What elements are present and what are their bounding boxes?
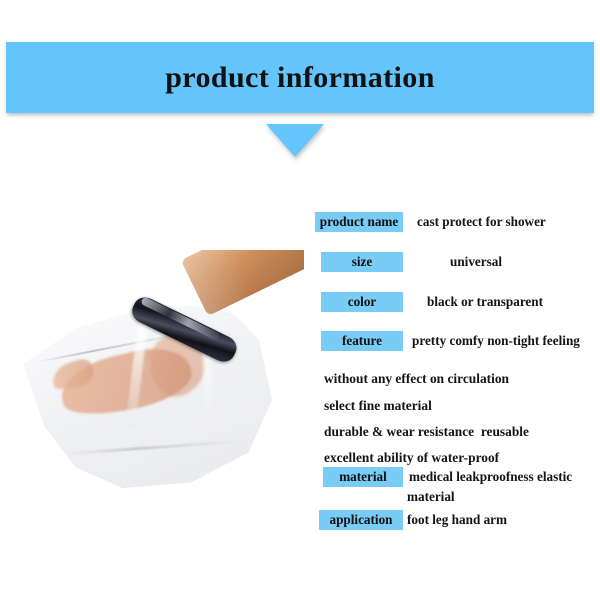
product-photo	[12, 250, 304, 505]
product-information-page: product information product name cast pr…	[0, 0, 600, 600]
spec-label-material: material	[323, 467, 403, 487]
product-photo-inner	[12, 250, 304, 505]
spec-label-application: application	[319, 510, 403, 530]
spec-value-size: universal	[450, 254, 502, 270]
triangle-down-icon	[266, 124, 326, 160]
spec-row-size: size universal	[308, 252, 598, 272]
feature-bullet-1: without any effect on circulation	[324, 371, 509, 387]
spec-value-color: black or transparent	[427, 294, 543, 310]
triangle-down-shape	[266, 124, 324, 157]
spec-label-color: color	[321, 292, 403, 312]
spec-value-feature: pretty comfy non-tight feeling	[412, 333, 580, 349]
spec-row-material: material medical leakproofness elastic	[308, 467, 598, 487]
feature-bullet-4: excellent ability of water-proof	[324, 450, 499, 466]
spec-row-application: application foot leg hand arm	[308, 510, 598, 530]
spec-value-product-name: cast protect for shower	[417, 214, 546, 230]
leg-shading	[181, 250, 304, 316]
spec-label-feature: feature	[321, 331, 403, 351]
spec-value-material-wrap: material	[407, 489, 455, 505]
page-title: product information	[165, 63, 435, 93]
specification-list: product name cast protect for shower siz…	[308, 212, 598, 542]
header-banner: product information	[6, 42, 594, 113]
spec-value-application: foot leg hand arm	[407, 512, 507, 528]
spec-row-product-name: product name cast protect for shower	[308, 212, 598, 232]
spec-row-feature: feature pretty comfy non-tight feeling	[308, 331, 598, 351]
feature-bullet-2: select fine material	[324, 398, 432, 414]
spec-label-size: size	[321, 252, 403, 272]
spec-value-material: medical leakproofness elastic	[409, 469, 572, 485]
spec-label-product-name: product name	[315, 212, 403, 232]
spec-row-color: color black or transparent	[308, 292, 598, 312]
feature-bullet-3: durable & wear resistance reusable	[324, 424, 529, 440]
